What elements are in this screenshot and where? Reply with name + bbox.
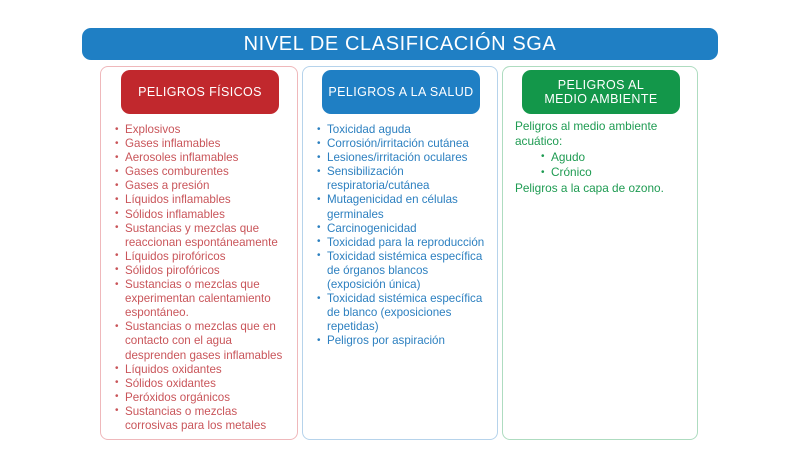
column-header-label: PELIGROS FÍSICOS xyxy=(138,85,262,99)
list-item: Toxicidad sistémica específica de blanco… xyxy=(317,292,489,334)
page-title: NIVEL DE CLASIFICACIÓN SGA xyxy=(244,34,557,54)
column-header-peligros-a-la-salud: PELIGROS A LA SALUD xyxy=(322,70,480,114)
column-body-peligros-a-la-salud: Toxicidad aguda Corrosión/irritación cut… xyxy=(303,123,497,349)
list-item: Sólidos pirofóricos xyxy=(115,264,289,278)
column-header-label: PELIGROS AL MEDIO AMBIENTE xyxy=(544,78,657,107)
list-item: Sustancias y mezclas que reaccionan espo… xyxy=(115,222,289,250)
list-item: Sólidos oxidantes xyxy=(115,377,289,391)
column-body-peligros-fisicos: Explosivos Gases inflamables Aerosoles i… xyxy=(101,123,297,433)
hazard-list-health: Toxicidad aguda Corrosión/irritación cut… xyxy=(317,123,489,349)
list-item: Líquidos inflamables xyxy=(115,193,289,207)
gha-classification-infographic: NIVEL DE CLASIFICACIÓN SGA PELIGROS FÍSI… xyxy=(0,0,800,463)
list-item: Crónico xyxy=(541,165,687,180)
list-item: Líquidos oxidantes xyxy=(115,363,289,377)
column-peligros-fisicos: PELIGROS FÍSICOS Explosivos Gases inflam… xyxy=(100,66,298,440)
env-sub-list: Agudo Crónico xyxy=(515,150,687,181)
hazard-columns: PELIGROS FÍSICOS Explosivos Gases inflam… xyxy=(0,66,800,446)
list-item: Peligros por aspiración xyxy=(317,334,489,348)
list-item: Carcinogenicidad xyxy=(317,222,489,236)
list-item: Sustancias o mezclas corrosivas para los… xyxy=(115,405,289,433)
column-header-peligros-fisicos: PELIGROS FÍSICOS xyxy=(121,70,279,114)
column-header-line-1: PELIGROS AL xyxy=(558,78,644,92)
list-item: Corrosión/irritación cutánea xyxy=(317,137,489,151)
column-body-peligros-al-medio-ambiente: Peligros al medio ambiente acuático: Agu… xyxy=(503,119,697,196)
env-intro-text: Peligros al medio ambiente acuático: xyxy=(515,119,687,150)
column-header-line-2: MEDIO AMBIENTE xyxy=(544,92,657,106)
list-item: Lesiones/irritación oculares xyxy=(317,151,489,165)
list-item: Sustancias o mezclas que experimentan ca… xyxy=(115,278,289,320)
list-item: Sustancias o mezclas que en contacto con… xyxy=(115,320,289,362)
column-header-label: PELIGROS A LA SALUD xyxy=(328,85,473,99)
column-peligros-a-la-salud: PELIGROS A LA SALUD Toxicidad aguda Corr… xyxy=(302,66,498,440)
hazard-list-physical: Explosivos Gases inflamables Aerosoles i… xyxy=(115,123,289,433)
list-item: Explosivos xyxy=(115,123,289,137)
page-title-banner: NIVEL DE CLASIFICACIÓN SGA xyxy=(82,28,718,60)
list-item: Gases a presión xyxy=(115,179,289,193)
list-item: Aerosoles inflamables xyxy=(115,151,289,165)
list-item: Sólidos inflamables xyxy=(115,208,289,222)
env-outro-text: Peligros a la capa de ozono. xyxy=(515,181,687,196)
column-header-peligros-al-medio-ambiente: PELIGROS AL MEDIO AMBIENTE xyxy=(522,70,680,114)
list-item: Líquidos pirofóricos xyxy=(115,250,289,264)
list-item: Toxicidad para la reproducción xyxy=(317,236,489,250)
column-peligros-al-medio-ambiente: PELIGROS AL MEDIO AMBIENTE Peligros al m… xyxy=(502,66,698,440)
list-item: Peróxidos orgánicos xyxy=(115,391,289,405)
list-item: Toxicidad aguda xyxy=(317,123,489,137)
list-item: Toxicidad sistémica específica de órgano… xyxy=(317,250,489,292)
list-item: Mutagenicidad en células germinales xyxy=(317,193,489,221)
list-item: Agudo xyxy=(541,150,687,165)
list-item: Gases comburentes xyxy=(115,165,289,179)
list-item: Gases inflamables xyxy=(115,137,289,151)
list-item: Sensibilización respiratoria/cutánea xyxy=(317,165,489,193)
